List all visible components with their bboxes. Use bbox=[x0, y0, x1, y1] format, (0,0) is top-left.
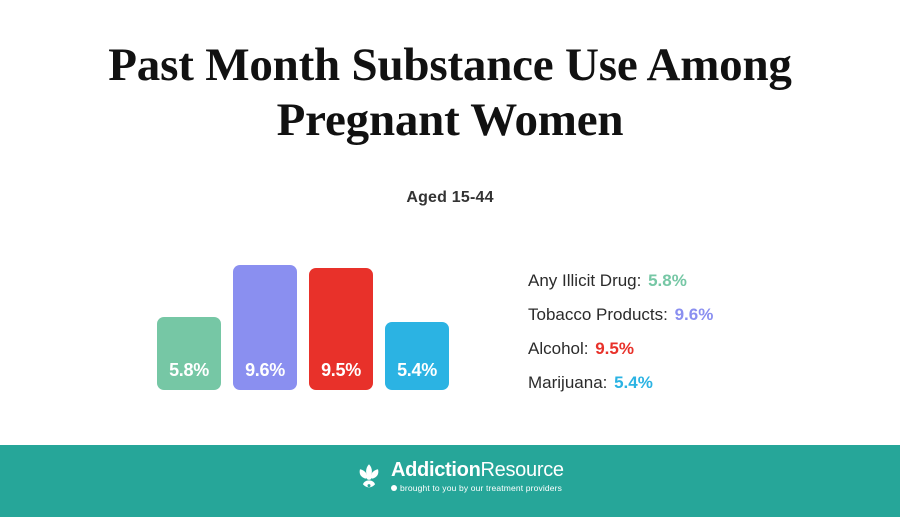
legend-item-value: 9.6% bbox=[670, 305, 713, 324]
bar-any-illicit-drug: 5.8% bbox=[157, 317, 221, 390]
bar-marijuana: 5.4% bbox=[385, 322, 449, 390]
legend-item-label: Alcohol: bbox=[528, 339, 588, 358]
legend-item: Any Illicit Drug: 5.8% bbox=[528, 264, 868, 298]
bar-value-label: 9.6% bbox=[245, 360, 285, 390]
legend-item-label: Any Illicit Drug: bbox=[528, 271, 641, 290]
bar-alcohol: 9.5% bbox=[309, 268, 373, 390]
logo-tagline: brought to you by our treatment provider… bbox=[391, 484, 564, 493]
page-title: Past Month Substance Use Among Pregnant … bbox=[0, 38, 900, 148]
brand-logo[interactable]: AddictionResource brought to you by our … bbox=[354, 460, 564, 493]
page-subtitle: Aged 15-44 bbox=[0, 189, 900, 207]
bar-value-label: 5.4% bbox=[397, 360, 437, 390]
logo-text-group: AddictionResource brought to you by our … bbox=[391, 460, 564, 493]
lotus-flower-icon bbox=[354, 461, 384, 491]
infographic-canvas: Past Month Substance Use Among Pregnant … bbox=[0, 0, 900, 517]
legend-item-value: 9.5% bbox=[590, 339, 633, 358]
legend-item: Tobacco Products: 9.6% bbox=[528, 298, 868, 332]
logo-tagline-text: brought to you by our treatment provider… bbox=[400, 484, 562, 493]
legend-item: Alcohol: 9.5% bbox=[528, 332, 868, 366]
bar-value-label: 5.8% bbox=[169, 360, 209, 390]
footer-band: AddictionResource brought to you by our … bbox=[0, 445, 900, 517]
legend-item: Marijuana: 5.4% bbox=[528, 366, 868, 400]
bar-value-label: 9.5% bbox=[321, 360, 361, 390]
logo-word-resource: Resource bbox=[481, 459, 564, 481]
logo-word-addiction: Addiction bbox=[391, 459, 481, 481]
title-block: Past Month Substance Use Among Pregnant … bbox=[0, 38, 900, 148]
logo-wordmark: AddictionResource bbox=[391, 460, 564, 480]
chart-legend: Any Illicit Drug: 5.8%Tobacco Products: … bbox=[528, 264, 868, 400]
legend-item-label: Tobacco Products: bbox=[528, 305, 668, 324]
legend-item-label: Marijuana: bbox=[528, 373, 607, 392]
bar-group: 5.8%9.6%9.5%5.4% bbox=[140, 255, 480, 390]
bullet-dot-icon bbox=[391, 485, 397, 491]
bar-tobacco-products: 9.6% bbox=[233, 265, 297, 390]
bar-chart: 5.8%9.6%9.5%5.4% bbox=[140, 250, 480, 400]
legend-item-value: 5.4% bbox=[609, 373, 652, 392]
legend-item-value: 5.8% bbox=[643, 271, 686, 290]
